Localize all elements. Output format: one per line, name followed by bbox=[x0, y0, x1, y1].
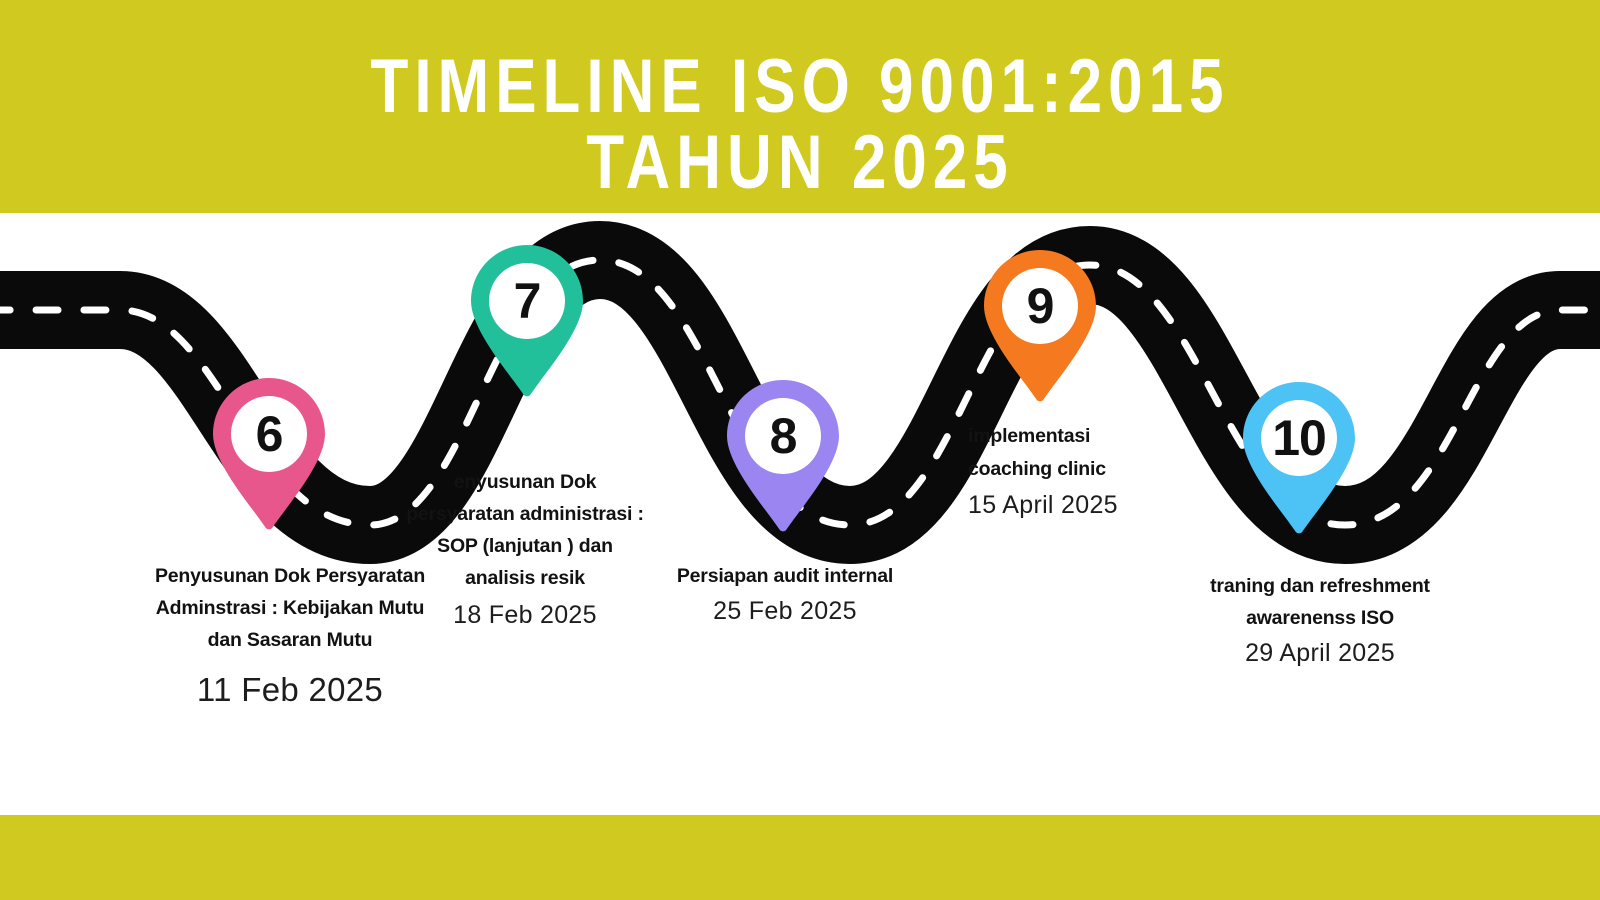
milestone-date-8: 25 Feb 2025 bbox=[645, 594, 925, 628]
milestone-label-10: traning dan refreshment awarenenss ISO 2… bbox=[1175, 570, 1465, 670]
milestone-title-7: enyusunan Dok persyaratan administrasi :… bbox=[400, 466, 650, 594]
pin-number-10: 10 bbox=[1243, 382, 1355, 494]
map-pin-7[interactable]: 7 bbox=[471, 245, 583, 397]
pin-number-8: 8 bbox=[727, 380, 839, 492]
milestone-label-9: implementasi coaching clinic 15 April 20… bbox=[968, 420, 1198, 522]
milestone-date-9: 15 April 2025 bbox=[968, 488, 1198, 522]
map-pin-8[interactable]: 8 bbox=[727, 380, 839, 532]
milestone-title-9: implementasi coaching clinic bbox=[968, 420, 1198, 486]
page-title: TIMELINE ISO 9001:2015 TAHUN 2025 bbox=[0, 50, 1600, 201]
map-pin-10[interactable]: 10 bbox=[1243, 382, 1355, 534]
header-band: TIMELINE ISO 9001:2015 TAHUN 2025 bbox=[0, 0, 1600, 213]
pin-number-6: 6 bbox=[213, 378, 325, 490]
infographic-page: TIMELINE ISO 9001:2015 TAHUN 2025 6 7 bbox=[0, 0, 1600, 900]
pin-number-9: 9 bbox=[984, 250, 1096, 362]
milestone-label-8: Persiapan audit internal 25 Feb 2025 bbox=[645, 560, 925, 628]
map-pin-9[interactable]: 9 bbox=[984, 250, 1096, 402]
pin-number-7: 7 bbox=[471, 245, 583, 357]
milestone-date-6: 11 Feb 2025 bbox=[95, 666, 485, 714]
milestone-date-7: 18 Feb 2025 bbox=[400, 598, 650, 632]
milestone-title-10: traning dan refreshment awarenenss ISO bbox=[1175, 570, 1465, 634]
map-pin-6[interactable]: 6 bbox=[213, 378, 325, 530]
milestone-label-7: enyusunan Dok persyaratan administrasi :… bbox=[400, 466, 650, 632]
milestone-title-8: Persiapan audit internal bbox=[645, 560, 925, 592]
milestone-date-10: 29 April 2025 bbox=[1175, 636, 1465, 670]
footer-band bbox=[0, 815, 1600, 900]
